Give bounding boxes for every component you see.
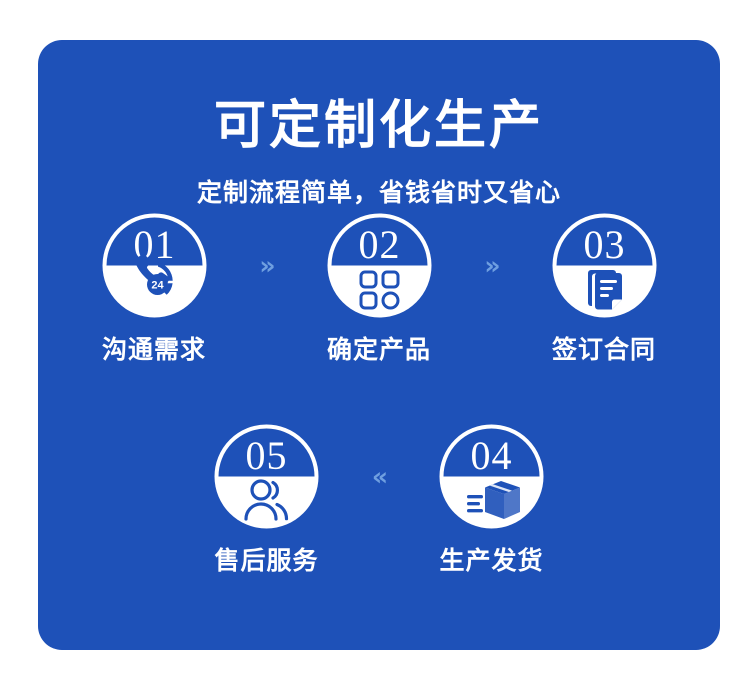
step-02-badge: 02 <box>326 212 433 319</box>
phone-24-label: 24 <box>151 280 164 292</box>
step-03[interactable]: 03 签订合同 <box>529 212 679 366</box>
page-title: 可定制化生产 <box>38 98 720 155</box>
infographic-canvas: 可定制化生产 定制流程简单，省钱省时又省心 <box>0 0 750 687</box>
step-01[interactable]: 01 24 沟通需求 <box>79 212 229 366</box>
step-separator-1: » <box>229 212 304 319</box>
step-separator-3: « <box>342 423 417 530</box>
page-subtitle: 定制流程简单，省钱省时又省心 <box>38 173 720 209</box>
step-row-2: 05 售后服务 « <box>38 423 720 598</box>
step-separator-2: » <box>454 212 529 319</box>
step-row-1: 01 24 沟通需求 » <box>38 212 720 387</box>
step-02-label: 确定产品 <box>327 330 431 366</box>
step-03-number: 03 <box>583 222 625 267</box>
blue-panel: 可定制化生产 定制流程简单，省钱省时又省心 <box>38 40 720 650</box>
step-03-label: 签订合同 <box>552 330 656 366</box>
step-02-number: 02 <box>358 222 400 267</box>
step-02[interactable]: 02 确定产品 <box>304 212 454 366</box>
step-04-badge: 04 <box>438 423 545 530</box>
step-04[interactable]: 04 <box>417 423 567 577</box>
step-01-label: 沟通需求 <box>102 330 206 366</box>
contract-documents-icon <box>588 270 622 310</box>
step-01-badge: 01 24 <box>101 212 208 319</box>
step-05-number: 05 <box>246 433 288 478</box>
step-05-badge: 05 <box>213 423 320 530</box>
step-03-badge: 03 <box>551 212 658 319</box>
step-05[interactable]: 05 售后服务 <box>192 423 342 577</box>
step-04-number: 04 <box>471 433 513 478</box>
step-05-label: 售后服务 <box>214 541 318 577</box>
step-04-label: 生产发货 <box>439 541 543 577</box>
